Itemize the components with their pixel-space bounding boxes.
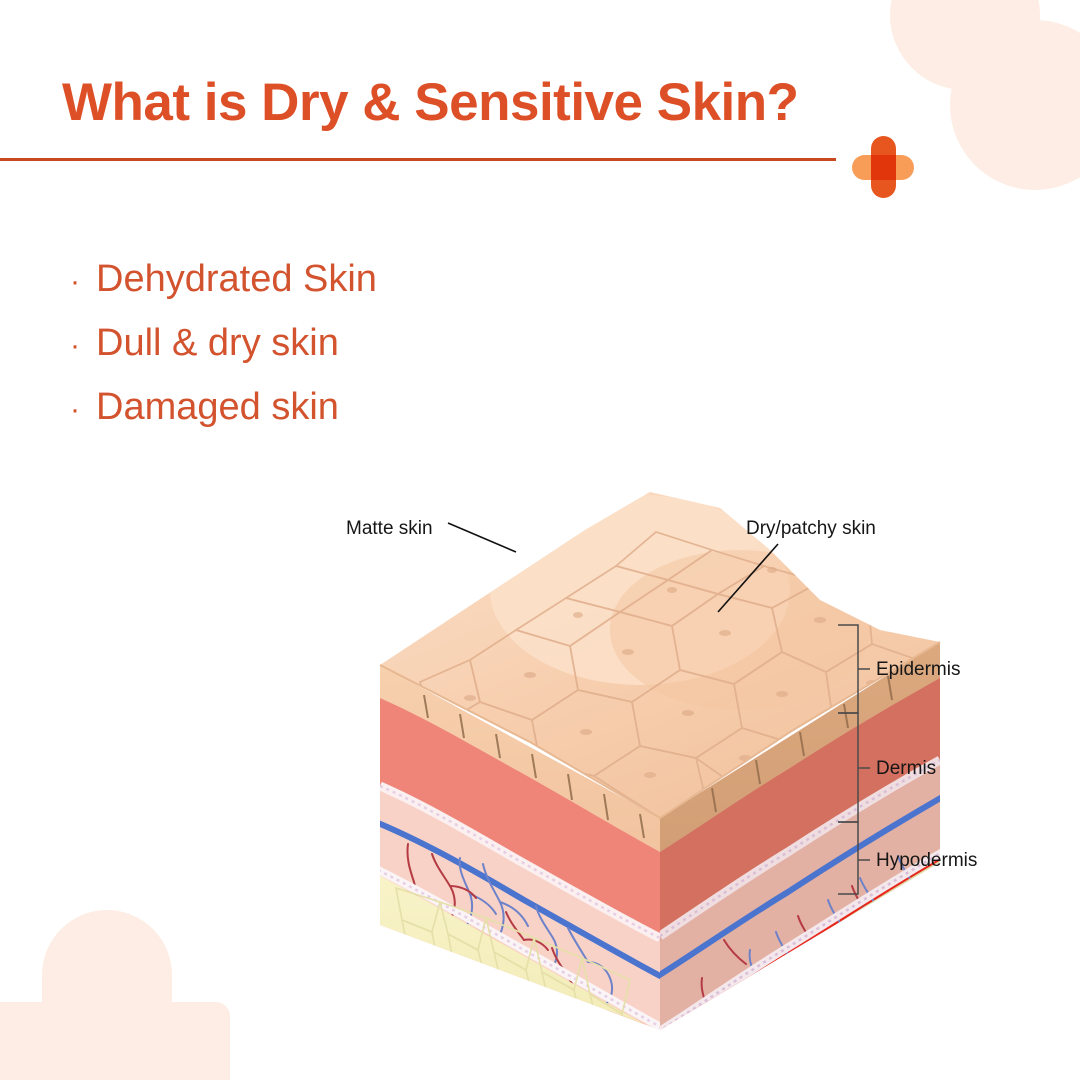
list-item: · Damaged skin: [70, 386, 590, 429]
callout-label: Matte skin: [346, 518, 433, 539]
list-item-label: Dull & dry skin: [96, 322, 339, 365]
symptom-list: · Dehydrated Skin · Dull & dry skin · Da…: [70, 258, 590, 450]
page-title: What is Dry & Sensitive Skin?: [62, 72, 799, 133]
callout-label: Dry/patchy skin: [746, 518, 876, 539]
decorative-blob-top-right-1: [890, 0, 1040, 90]
list-item: · Dehydrated Skin: [70, 258, 590, 301]
medical-cross-icon: [852, 136, 914, 198]
layer-label: Hypodermis: [876, 850, 977, 871]
skin-cross-section-diagram: Matte skin Dry/patchy skin Epidermis Der…: [320, 470, 1020, 1050]
title-divider: [0, 158, 836, 161]
list-item: · Dull & dry skin: [70, 322, 590, 365]
bullet-marker-icon: ·: [70, 331, 96, 361]
decorative-blob-bottom-left-band: [0, 1002, 230, 1080]
decorative-blob-bottom-left-arch: [42, 910, 172, 1080]
callout-matte-skin: Matte skin: [346, 518, 516, 552]
bullet-marker-icon: ·: [70, 267, 96, 297]
list-item-label: Dehydrated Skin: [96, 258, 377, 301]
callout-leader-line: [448, 523, 516, 552]
cross-horizontal-bar: [852, 155, 914, 180]
decorative-blob-top-right-2: [950, 20, 1080, 190]
layer-label: Epidermis: [876, 659, 960, 680]
layer-label: Dermis: [876, 758, 936, 779]
bullet-marker-icon: ·: [70, 395, 96, 425]
list-item-label: Damaged skin: [96, 386, 339, 429]
infographic-page: What is Dry & Sensitive Skin? · Dehydrat…: [0, 0, 1080, 1080]
